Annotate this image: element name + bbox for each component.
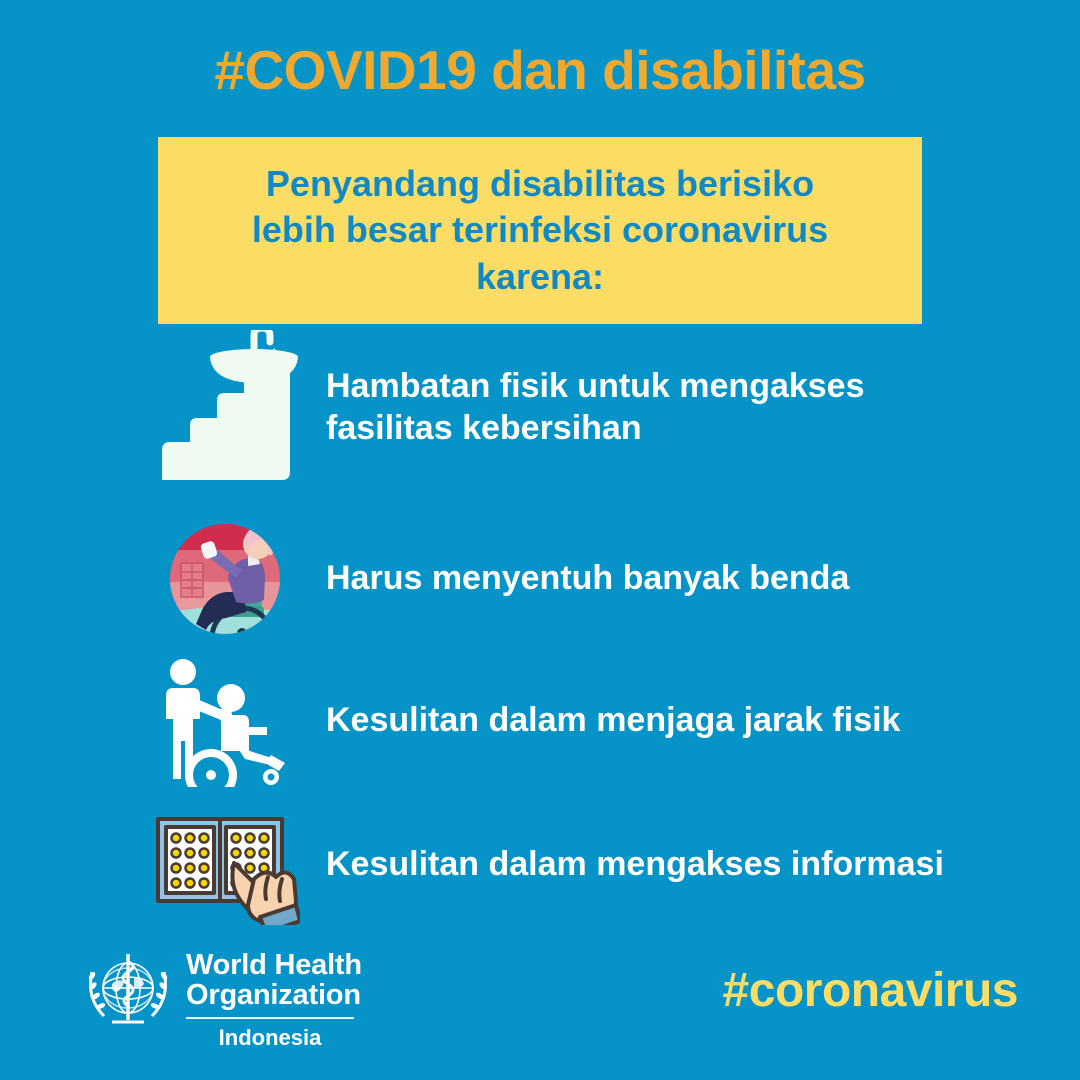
bullet-3-line-1: Kesulitan dalam menjaga jarak fisik (326, 700, 900, 741)
who-logo: World Health Organization Indonesia (82, 946, 362, 1051)
bullet-row-physical-barriers: Hambatan fisik untuk mengakses fasilitas… (140, 330, 1040, 485)
bullet-label-physical-distancing: Kesulitan dalam menjaga jarak fisik (326, 700, 900, 741)
caregiver-assisting-wheelchair-user-icon (140, 655, 310, 787)
headline-line-2: lebih besar terinfeksi coronavirus (252, 207, 828, 253)
bullet-2-line-1: Harus menyentuh banyak benda (326, 558, 849, 599)
braille-book-hand-icon (140, 805, 310, 925)
headline-banner-text: Penyandang disabilitas berisiko lebih be… (226, 161, 854, 299)
bullet-1-line-2: fasilitas kebersihan (326, 408, 865, 449)
person-wheelchair-touching-surfaces-icon (140, 520, 310, 638)
who-divider (186, 1017, 354, 1019)
bullet-label-physical-barriers: Hambatan fisik untuk mengakses fasilitas… (326, 366, 865, 449)
who-country-label: Indonesia (186, 1025, 354, 1051)
sink-on-stairs-icon (140, 330, 310, 485)
bullet-row-physical-distancing: Kesulitan dalam menjaga jarak fisik (140, 655, 1040, 787)
bullet-label-touching-surfaces: Harus menyentuh banyak benda (326, 558, 849, 599)
page-title: #COVID19 dan disabilitas (0, 40, 1080, 101)
bullet-1-line-1: Hambatan fisik untuk mengakses (326, 366, 865, 407)
bullet-label-access-information: Kesulitan dalam mengakses informasi (326, 844, 944, 885)
headline-line-1: Penyandang disabilitas berisiko (252, 161, 828, 207)
bullet-row-access-information: Kesulitan dalam mengakses informasi (140, 805, 1040, 925)
headline-line-3: karena: (252, 254, 828, 300)
who-wordmark: World Health Organization Indonesia (186, 950, 362, 1051)
who-name-line-2: Organization (186, 980, 362, 1010)
who-name-line-1: World Health (186, 950, 362, 980)
hashtag-coronavirus: #coronavirus (723, 963, 1018, 1018)
headline-banner: Penyandang disabilitas berisiko lebih be… (158, 137, 922, 324)
bullet-4-line-1: Kesulitan dalam mengakses informasi (326, 844, 944, 885)
who-emblem-icon (82, 946, 174, 1038)
bullet-row-touching-surfaces: Harus menyentuh banyak benda (140, 520, 1040, 638)
